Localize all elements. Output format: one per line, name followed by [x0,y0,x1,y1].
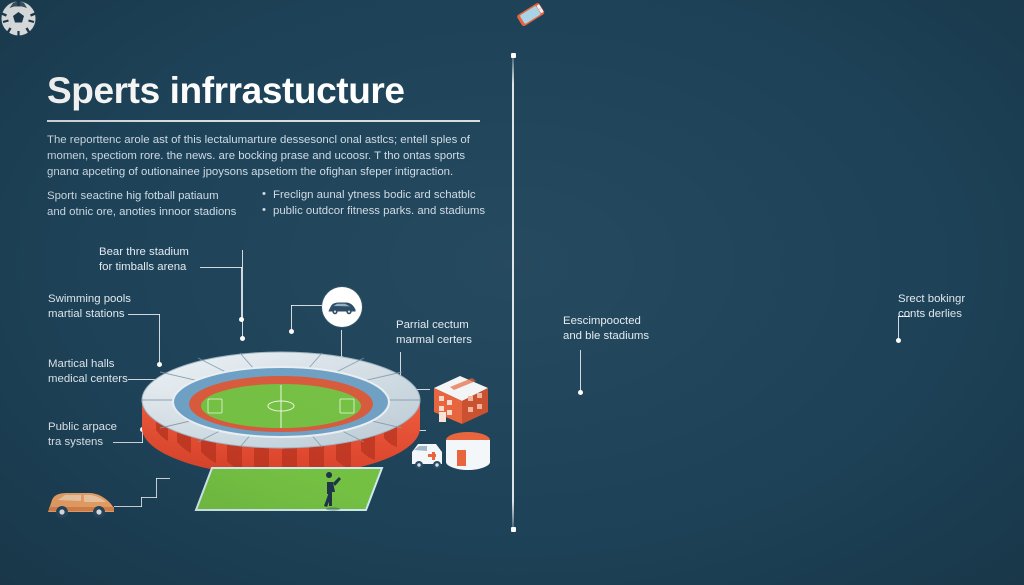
list-item: Freclign aunal ytness bodic ard schatblc [262,187,494,203]
office-building-illustration [424,372,494,428]
leader-endpoint [289,329,294,334]
infographic-canvas: Sperts infrrastucture The reporttenc aro… [0,0,1024,585]
left-bullets-column-2: Freclign aunal ytness bodic ard schatblc… [262,187,494,220]
ambulance-van-illustration [410,424,496,474]
leader-line [291,305,292,331]
soccer-ball-icon [0,0,37,37]
leader-line [580,350,581,392]
left-panel: Sperts infrrastucture The reporttenc aro… [0,0,513,585]
leader-line [156,478,157,498]
leader-line [114,506,142,507]
leader-endpoint [896,338,901,343]
left-panel-title: Sperts infrrastucture [47,70,405,112]
leader-line [128,314,160,315]
car-icon [322,287,362,327]
left-panel-intro: The reporttenc arole ast of this lectalu… [47,132,481,181]
left-bullets-column-1: Sportı seactine hig fotball patiaum and … [47,188,247,221]
leader-line [141,497,142,507]
list-item: and otnic ore, anoties innoor stadions [47,204,247,220]
leader-endpoint [578,390,583,395]
leader-line [242,250,243,338]
training-pitch-illustration [190,462,390,524]
annotation-ball-arena: Bear thre stadium for timballs arena [99,245,239,274]
car-illustration [45,487,117,519]
annotation-swimming-pools: Swimming pools martial stations [48,292,198,321]
list-item: Sportı seactine hig fotball patiaum [47,188,247,204]
leader-line [898,316,910,317]
phone-note-icon [513,0,549,30]
leader-endpoint [240,336,245,341]
list-item: public outdcor fitness parks. and stadiu… [262,203,494,219]
leader-line [141,497,157,498]
annotation-eco-stadiums: Eescimpoocted and ble stadiums [563,314,703,343]
leader-line [200,267,242,268]
left-title-rule [47,120,480,122]
leader-line [156,478,170,479]
leader-line [291,305,322,306]
leader-line [898,316,899,340]
annotation-booking-systems: Srect bokingr conts derlies [898,292,1024,321]
right-panel: Sperts complex The riall spcating and oa… [513,0,1024,585]
